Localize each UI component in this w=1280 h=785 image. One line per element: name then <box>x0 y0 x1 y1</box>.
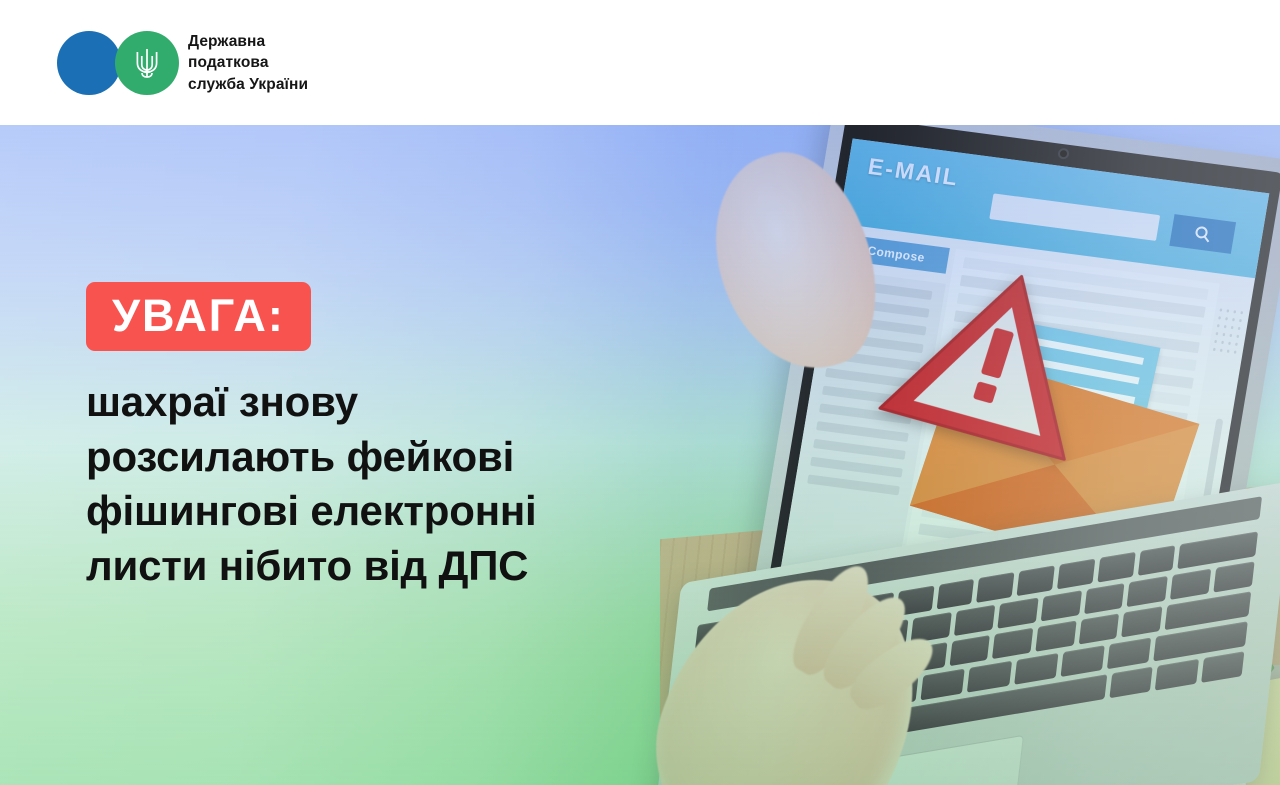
key[interactable] <box>1078 613 1119 644</box>
logo-wordmark: Державна податкова служба України <box>188 31 308 94</box>
key[interactable] <box>1057 559 1095 590</box>
attention-badge: УВАГА: <box>86 282 311 351</box>
key[interactable] <box>954 605 995 636</box>
logo-marks <box>57 29 179 97</box>
sidebar-folder-item[interactable] <box>816 421 909 442</box>
grid-dots-icon <box>1210 306 1244 357</box>
key[interactable] <box>1084 583 1125 614</box>
key[interactable] <box>949 635 990 666</box>
key[interactable] <box>992 628 1033 659</box>
sidebar-folder-item[interactable] <box>813 439 906 460</box>
banner-headline: шахраї знову розсилають фейкові фішингов… <box>86 375 766 593</box>
site-header: Державна податкова служба України <box>0 0 1280 125</box>
key[interactable] <box>1109 667 1153 699</box>
dps-logo[interactable]: Державна податкова служба України <box>57 28 308 98</box>
key[interactable] <box>1060 645 1104 677</box>
attention-badge-label: УВАГА: <box>112 293 285 338</box>
key[interactable] <box>1155 659 1199 691</box>
key[interactable] <box>1014 653 1058 685</box>
key[interactable] <box>1137 545 1175 576</box>
key[interactable] <box>1170 569 1211 600</box>
dps-phishing-warning-banner: Державна податкова служба України <box>0 0 1280 785</box>
ukraine-trident-emblem-icon <box>132 46 162 80</box>
logo-green-circle <box>115 31 179 95</box>
key[interactable] <box>1040 590 1081 621</box>
logo-blue-circle <box>57 31 121 95</box>
banner-copy: УВАГА: шахраї знову розсилають фейкові ф… <box>86 282 766 593</box>
key[interactable] <box>997 598 1038 629</box>
key[interactable] <box>977 572 1015 603</box>
key[interactable] <box>1213 561 1254 592</box>
hero-banner: E-MAIL Compose <box>0 125 1280 785</box>
key[interactable] <box>1127 576 1168 607</box>
key[interactable] <box>921 669 965 701</box>
key[interactable] <box>1035 621 1076 652</box>
key[interactable] <box>967 661 1011 693</box>
key[interactable] <box>1201 651 1245 683</box>
key[interactable] <box>936 579 974 610</box>
magnifier-icon <box>1192 224 1213 244</box>
key[interactable] <box>1017 565 1055 596</box>
sidebar-folder-item[interactable] <box>810 457 903 478</box>
webcam <box>1059 150 1067 158</box>
key[interactable] <box>1121 606 1162 637</box>
key[interactable] <box>1097 552 1135 583</box>
key[interactable] <box>1107 637 1151 669</box>
sidebar-folder-item[interactable] <box>807 474 900 495</box>
